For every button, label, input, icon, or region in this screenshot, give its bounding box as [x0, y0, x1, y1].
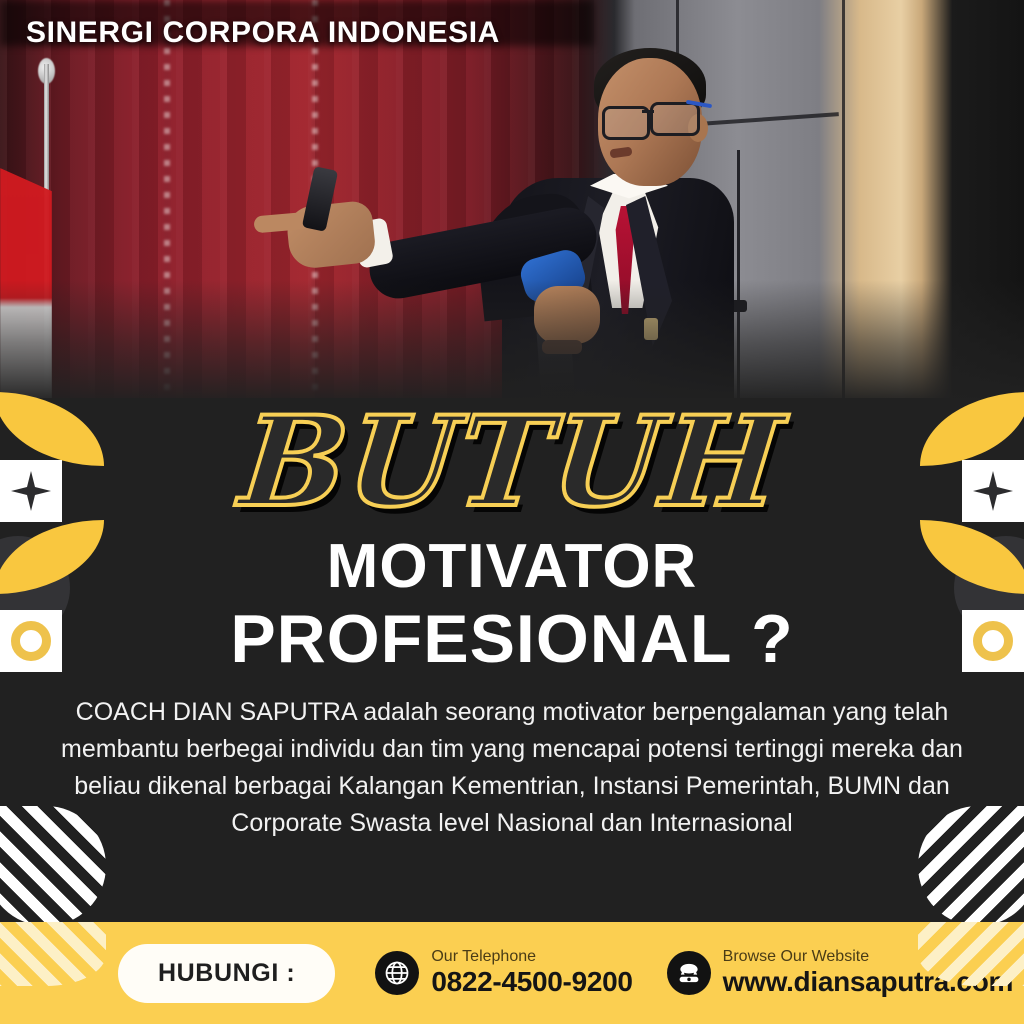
- headline-line-1: MOTIVATOR: [0, 532, 1024, 602]
- phone-contact[interactable]: Our Telephone 0822-4500-9200: [375, 948, 632, 997]
- contact-footer: HUBUNGI : Our Telephone 0822-4500-9200: [0, 922, 1024, 1024]
- script-headline: BUTUH: [236, 404, 789, 522]
- brand-title: SINERGI CORPORA INDONESIA: [26, 16, 500, 50]
- phone-number: 0822-4500-9200: [431, 966, 632, 997]
- poster: SINERGI CORPORA INDONESIA BUTUH MOTIVATO…: [0, 0, 1024, 1024]
- glasses-lens: [650, 102, 700, 136]
- hero-photo: [0, 0, 1024, 430]
- pointing-hand: [285, 200, 377, 271]
- phone-label: Our Telephone: [431, 948, 632, 966]
- telephone-icon: [667, 951, 711, 995]
- phone-text: Our Telephone 0822-4500-9200: [431, 948, 632, 997]
- hubungi-button[interactable]: HUBUNGI :: [118, 944, 335, 1003]
- headline-block: BUTUH MOTIVATOR PROFESIONAL ?: [0, 404, 1024, 676]
- body-paragraph: COACH DIAN SAPUTRA adalah seorang motiva…: [50, 694, 974, 842]
- glasses-bridge: [642, 110, 654, 113]
- globe-icon: [375, 951, 419, 995]
- headline-line-2: PROFESIONAL ?: [0, 602, 1024, 676]
